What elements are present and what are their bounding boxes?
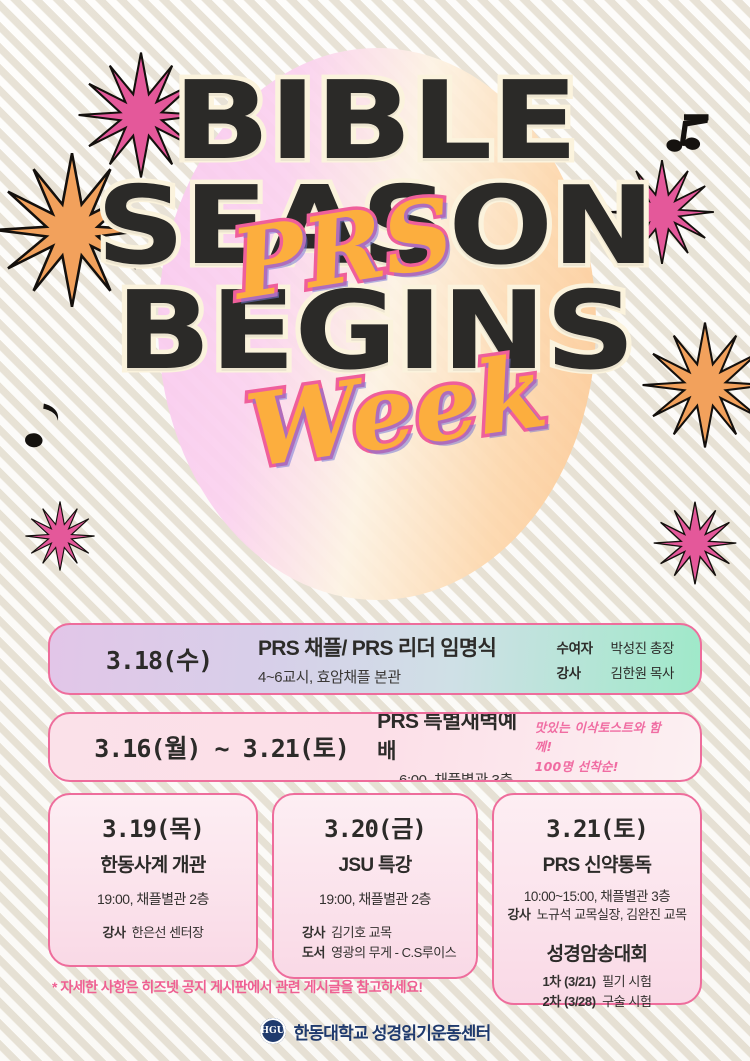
brand-name: 한동대학교 성경읽기운동센터: [294, 1019, 491, 1044]
star-pink-bottom-right-icon: [652, 500, 738, 586]
card3-sub-label: 2차 (3/28): [542, 994, 595, 1009]
row2-date: 3.16(월) ~ 3.21(토): [72, 729, 371, 765]
row2-note-line-2: 100명 선착순!: [535, 757, 678, 776]
row1-meta-item: 수여자 박성진 총장: [557, 637, 674, 657]
card1-date: 3.19(목): [60, 809, 246, 844]
card2-title: JSU 특강: [284, 850, 466, 877]
card2-meta-value: 영광의 무게 - C.S루이스: [331, 945, 456, 960]
university-logo-text: HGU: [261, 1026, 285, 1036]
row1-date: 3.18(수): [74, 641, 244, 677]
card3-sub-value: 구술 시험: [602, 994, 651, 1009]
card3-date: 3.21(토): [504, 809, 690, 844]
card3-sub-item: 1차 (3/21) 필기 시험: [504, 972, 690, 993]
schedule-row-1: 3.18(수) PRS 채플/ PRS 리더 임명식 4~6교시, 효암채플 본…: [48, 623, 702, 695]
card3-sub-label: 1차 (3/21): [542, 974, 595, 989]
row1-meta: 수여자 박성진 총장 강사 김한원 목사: [557, 637, 674, 682]
row2-subtitle: 6:00, 채플별관 3층: [399, 769, 513, 783]
row2-details: PRS 특별새벽예배 6:00, 채플별관 3층: [377, 712, 535, 782]
star-pink-bottom-left-icon: [24, 500, 96, 572]
event-card-3: 3.21(토) PRS 신약통독 10:00~15:00, 채플별관 3층 강사…: [492, 793, 702, 1005]
title-line-1: BIBLE: [0, 74, 750, 169]
music-note-eighth-icon: [15, 398, 71, 459]
row1-meta-item: 강사 김한원 목사: [557, 662, 674, 682]
card2-meta-key: 강사: [302, 925, 325, 940]
row2-note-line-1: 맛있는 이삭토스트와 함께!: [535, 718, 678, 757]
footnote: * 자세한 사항은 히즈넷 공지 게시판에서 관련 게시글을 참고하세요!: [52, 977, 423, 997]
poster-root: BIBLE SEASON BEGINS PRS Week 3.18(수) PRS…: [0, 0, 750, 1061]
card2-meta: 강사 김기호 교목 도서 영광의 무게 - C.S루이스: [284, 923, 466, 962]
card2-meta-value: 김기호 교목: [331, 925, 391, 940]
card1-meta-value: 한은선 센터장: [132, 925, 204, 940]
event-card-1: 3.19(목) 한동사계 개관 19:00, 채플별관 2층 강사 한은선 센터…: [48, 793, 258, 967]
university-logo-icon: HGU: [260, 1018, 286, 1044]
row1-meta-key: 강사: [557, 662, 599, 682]
card3-sub-list: 1차 (3/21) 필기 시험 2차 (3/28) 구술 시험: [504, 972, 690, 1014]
card3-meta-item: 강사 노규석 교목실장, 김완진 교목: [504, 905, 690, 925]
card1-when: 19:00, 채플별관 2층: [60, 889, 246, 909]
event-card-2: 3.20(금) JSU 특강 19:00, 채플별관 2층 강사 김기호 교목 …: [272, 793, 478, 979]
row2-handwritten-note: 맛있는 이삭토스트와 함께! 100명 선착순!: [535, 718, 678, 776]
row2-title: PRS 특별새벽예배: [377, 712, 535, 765]
row1-meta-key: 수여자: [557, 637, 599, 657]
row1-meta-value: 박성진 총장: [611, 637, 674, 657]
card3-sub-item: 2차 (3/28) 구술 시험: [504, 992, 690, 1013]
card3-meta-key: 강사: [507, 907, 530, 922]
row1-details: PRS 채플/ PRS 리더 임명식 4~6교시, 효암채플 본관: [258, 632, 496, 687]
hero-section: BIBLE SEASON BEGINS PRS Week: [0, 0, 750, 612]
card1-meta: 강사 한은선 센터장: [60, 923, 246, 943]
card1-meta-item: 강사 한은선 센터장: [60, 923, 246, 943]
row1-meta-value: 김한원 목사: [611, 662, 674, 682]
row1-title: PRS 채플/ PRS 리더 임명식: [258, 632, 496, 662]
card2-meta-item: 도서 영광의 무게 - C.S루이스: [302, 943, 466, 963]
row1-subtitle: 4~6교시, 효암채플 본관: [258, 666, 496, 687]
card3-sub-title: 성경암송대회: [504, 939, 690, 966]
card3-title: PRS 신약통독: [504, 850, 690, 877]
card1-title: 한동사계 개관: [60, 850, 246, 877]
card2-meta-item: 강사 김기호 교목: [302, 923, 466, 943]
card2-when: 19:00, 채플별관 2층: [284, 889, 466, 909]
card2-date: 3.20(금): [284, 809, 466, 844]
card3-sub-value: 필기 시험: [602, 974, 651, 989]
schedule-row-2: 3.16(월) ~ 3.21(토) PRS 특별새벽예배 6:00, 채플별관 …: [48, 712, 702, 782]
brand-lockup: HGU 한동대학교 성경읽기운동센터: [0, 1018, 750, 1044]
card2-meta-key: 도서: [302, 945, 325, 960]
card3-meta-value: 노규석 교목실장, 김완진 교목: [537, 907, 687, 922]
card1-meta-key: 강사: [102, 925, 125, 940]
card3-when: 10:00~15:00, 채플별관 3층: [504, 885, 690, 905]
